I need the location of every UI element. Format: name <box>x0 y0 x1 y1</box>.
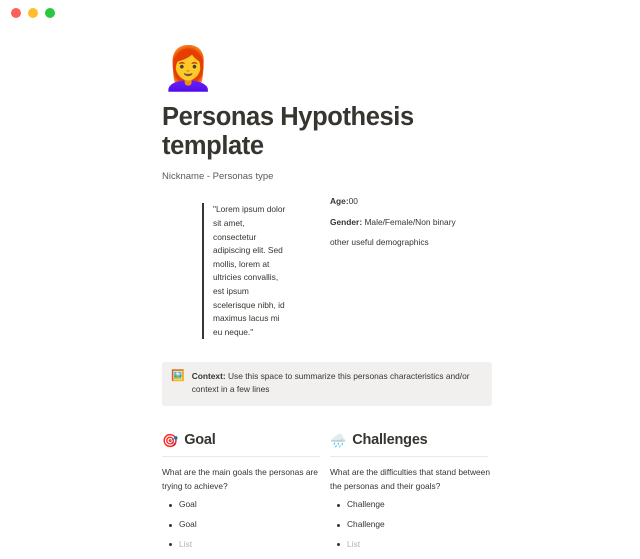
page-subtitle[interactable]: Nickname - Personas type <box>162 171 492 183</box>
window-maximize-button[interactable] <box>45 8 55 18</box>
context-callout-text: Context: Use this space to summarize thi… <box>192 370 482 397</box>
context-callout-body: Use this space to summarize this persona… <box>192 371 470 395</box>
window-minimize-button[interactable] <box>28 8 38 18</box>
section-goal-list: Goal Goal List <box>162 499 326 550</box>
demographics-column: Age:00 Gender: Male/Female/Non binary ot… <box>330 195 492 250</box>
section-goal-divider <box>162 456 320 457</box>
demographic-gender-value: Male/Female/Non binary <box>362 217 456 227</box>
demographic-other[interactable]: other useful demographics <box>330 236 492 250</box>
cloud-with-rain-icon: 🌧️ <box>330 432 346 449</box>
section-goal-header: 🎯 Goal <box>162 432 326 449</box>
persona-quote[interactable]: "Lorem ipsum dolor sit amet, consectetur… <box>202 203 286 339</box>
list-item[interactable]: Challenge <box>330 519 494 531</box>
section-challenges-list: Challenge Challenge List <box>330 499 494 550</box>
section-challenges-divider <box>330 456 488 457</box>
demographic-other-value: other useful demographics <box>330 237 429 247</box>
demographic-gender[interactable]: Gender: Male/Female/Non binary <box>330 216 492 230</box>
section-challenges-description[interactable]: What are the difficulties that stand bet… <box>330 466 494 493</box>
demographic-age[interactable]: Age:00 <box>330 195 492 209</box>
section-challenges: 🌧️ Challenges What are the difficulties … <box>330 432 494 559</box>
demographic-age-label: Age: <box>330 196 349 206</box>
section-goal: 🎯 Goal What are the main goals the perso… <box>162 432 326 559</box>
section-goal-title[interactable]: Goal <box>184 432 215 449</box>
direct-hit-icon: 🎯 <box>162 432 178 449</box>
context-callout-label: Context: <box>192 371 226 381</box>
page-title[interactable]: Personas Hypothesis template <box>162 103 492 162</box>
window-close-button[interactable] <box>11 8 21 18</box>
demographic-age-value: 00 <box>349 196 358 206</box>
section-challenges-title[interactable]: Challenges <box>352 432 427 449</box>
framed-picture-icon: 🖼️ <box>171 370 185 383</box>
section-challenges-header: 🌧️ Challenges <box>330 432 494 449</box>
section-goal-description[interactable]: What are the main goals the personas are… <box>162 466 326 493</box>
list-item-placeholder[interactable]: List <box>330 539 494 551</box>
intro-columns: "Lorem ipsum dolor sit amet, consectetur… <box>162 195 492 348</box>
document-body: 👩‍🦰 Personas Hypothesis template Nicknam… <box>162 26 492 559</box>
list-item-placeholder[interactable]: List <box>162 539 326 551</box>
list-item[interactable]: Goal <box>162 519 326 531</box>
woman-red-hair-emoji[interactable]: 👩‍🦰 <box>162 44 492 94</box>
list-item[interactable]: Challenge <box>330 499 494 511</box>
quote-column: "Lorem ipsum dolor sit amet, consectetur… <box>162 195 326 348</box>
demographic-gender-label: Gender: <box>330 217 362 227</box>
document-page: 👩‍🦰 Personas Hypothesis template Nicknam… <box>0 26 640 559</box>
section-columns: 🎯 Goal What are the main goals the perso… <box>162 432 492 559</box>
list-item[interactable]: Goal <box>162 499 326 511</box>
context-callout[interactable]: 🖼️ Context: Use this space to summarize … <box>162 362 492 406</box>
window-titlebar <box>0 0 640 26</box>
